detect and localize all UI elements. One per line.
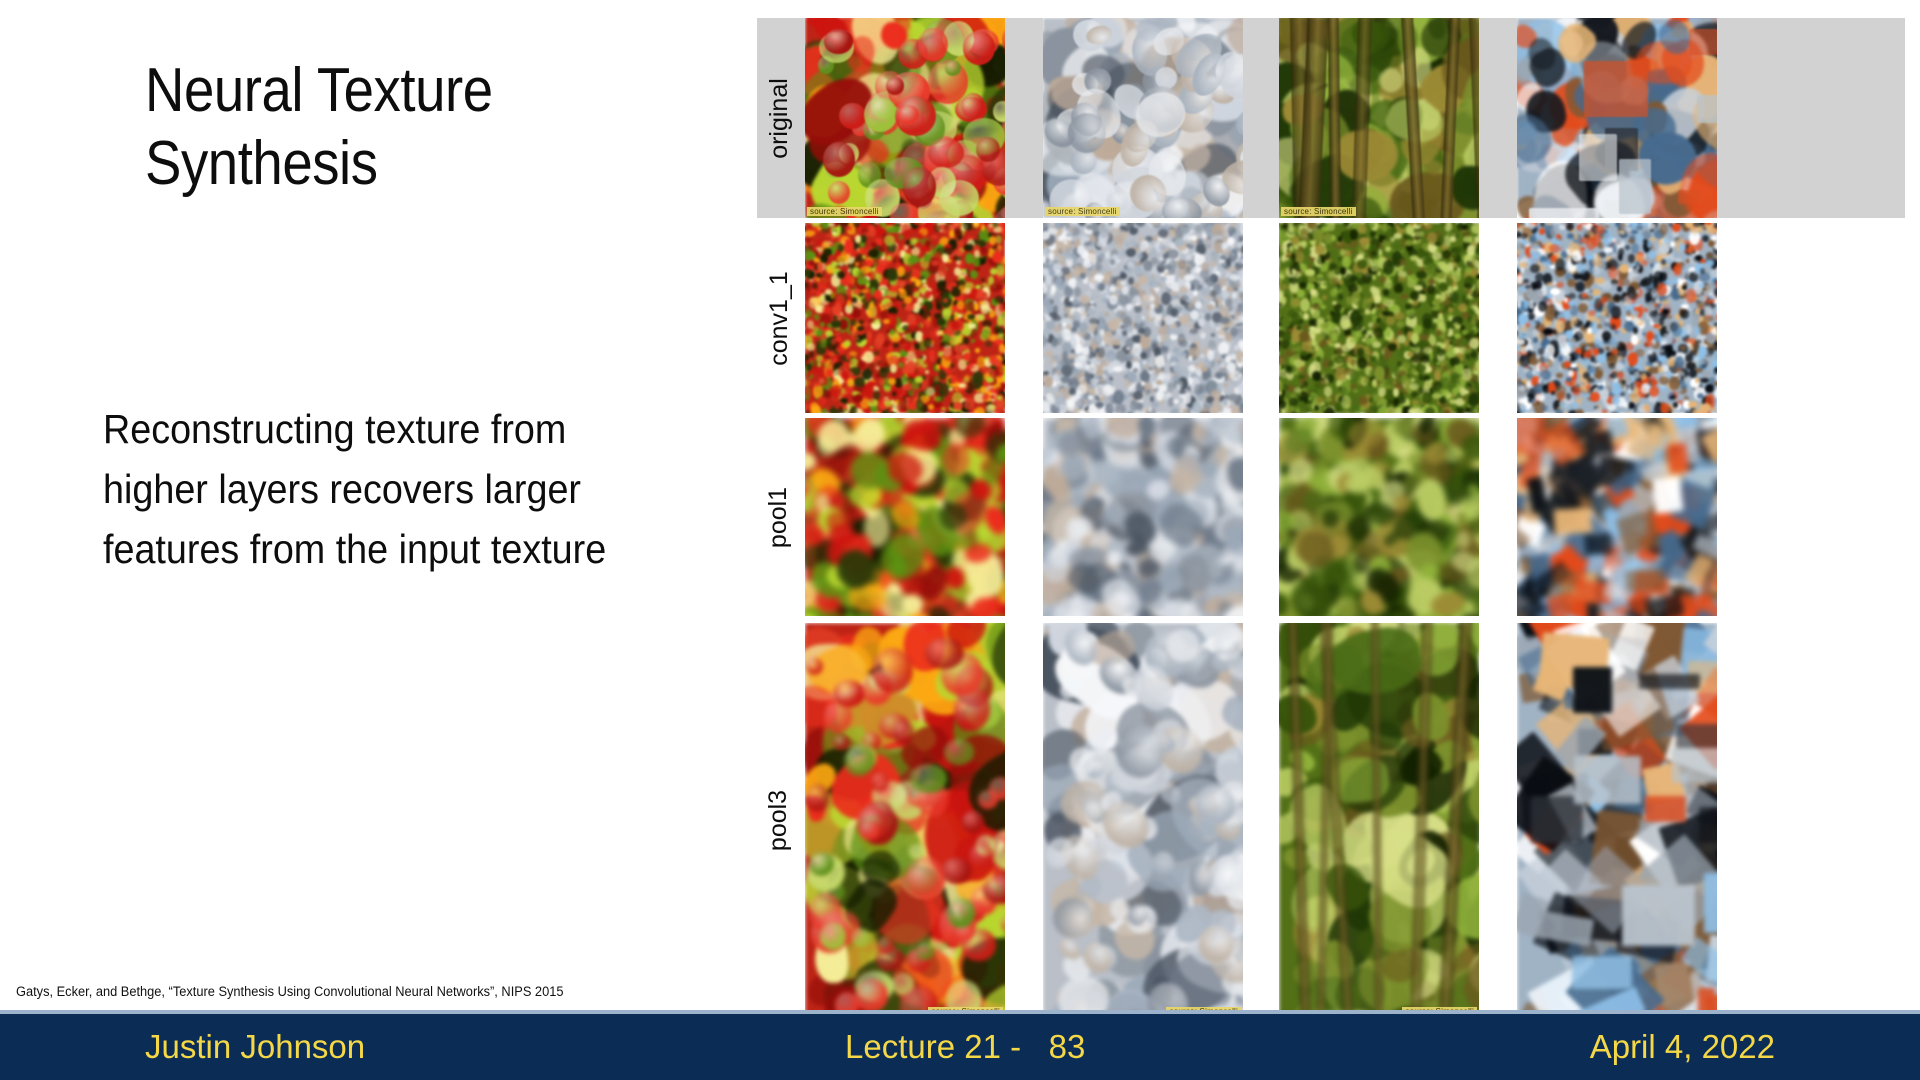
footer-date: April 4, 2022 [1590, 1028, 1775, 1066]
texture-synthesis-figure: originalsource: Simoncellisource: Simonc… [757, 18, 1905, 1018]
texture-base-layer [805, 223, 1005, 413]
row-label-text: pool1 [765, 486, 794, 547]
figure-rows: originalsource: Simoncellisource: Simonc… [757, 18, 1905, 1018]
figure-row-original: originalsource: Simoncellisource: Simonc… [757, 18, 1905, 218]
image-source-tag: source: Simoncelli [1281, 207, 1356, 216]
texture-structure-layer [1043, 18, 1243, 218]
figure-cell-radishes-pool3: source: Simoncelli [805, 623, 1005, 1018]
row-label-conv1_1: conv1_1 [757, 223, 801, 413]
figure-cell-palm-fronds: source: Simoncelli [1279, 18, 1479, 218]
figure-row-pool3: pool3source: Simoncellisource: Simoncell… [757, 623, 1905, 1018]
figure-row-conv1_1: conv1_1 [757, 223, 1905, 413]
figure-cell-pebbles-pool1 [1043, 418, 1243, 616]
row-label-text: conv1_1 [765, 271, 794, 366]
texture-base-layer [1517, 223, 1717, 413]
figure-cell-radishes-pool1 [805, 418, 1005, 616]
texture-structure-layer [1517, 18, 1717, 218]
figure-cell-pebbles: source: Simoncelli [1043, 18, 1243, 218]
figure-cell-display-booth-pool3 [1517, 623, 1717, 1018]
texture-structure-layer [1517, 623, 1717, 1018]
figure-row-cells: source: Simoncellisource: Simoncellisour… [805, 623, 1905, 1018]
row-label-text: pool3 [765, 790, 794, 851]
texture-structure-layer [805, 623, 1005, 1018]
page-title: Neural Texture Synthesis [145, 55, 638, 200]
image-source-tag: source: Simoncelli [807, 207, 882, 216]
texture-structure-layer [805, 18, 1005, 218]
figure-cell-radishes: source: Simoncelli [805, 18, 1005, 218]
image-source-tag: source: Simoncelli [1045, 207, 1120, 216]
figure-cell-display-booth-conv1-1 [1517, 223, 1717, 413]
body-paragraph: Reconstructing texture from higher layer… [103, 400, 655, 580]
figure-row-cells [805, 418, 1905, 616]
row-label-text: original [765, 78, 794, 159]
figure-cell-radishes-conv1-1 [805, 223, 1005, 413]
texture-base-layer [805, 418, 1005, 616]
figure-cell-display-booth-pool1 [1517, 418, 1717, 616]
slide: Neural Texture Synthesis Reconstructing … [0, 0, 1920, 1080]
row-label-pool1: pool1 [757, 418, 801, 616]
texture-base-layer [1043, 223, 1243, 413]
figure-cell-display-booth [1517, 18, 1717, 218]
citation-text: Gatys, Ecker, and Bethge, “Texture Synth… [16, 983, 681, 1001]
texture-base-layer [1279, 223, 1479, 413]
row-label-pool3: pool3 [757, 623, 801, 1018]
figure-row-pool1: pool1 [757, 418, 1905, 616]
texture-structure-layer [1279, 18, 1479, 218]
figure-cell-pebbles-conv1-1 [1043, 223, 1243, 413]
footer-author: Justin Johnson [145, 1028, 365, 1066]
texture-structure-layer [1043, 623, 1243, 1018]
slide-footer: Justin Johnson Lecture 21 - 83 April 4, … [0, 1010, 1920, 1080]
figure-cell-pebbles-pool3: source: Simoncelli [1043, 623, 1243, 1018]
figure-row-cells: source: Simoncellisource: Simoncellisour… [805, 18, 1905, 218]
texture-structure-layer [1279, 623, 1479, 1018]
figure-cell-palm-fronds-conv1-1 [1279, 223, 1479, 413]
figure-row-cells [805, 223, 1905, 413]
texture-base-layer [1043, 418, 1243, 616]
texture-base-layer [1517, 418, 1717, 616]
footer-lecture-slide: Lecture 21 - 83 [845, 1028, 1085, 1066]
figure-cell-palm-fronds-pool1 [1279, 418, 1479, 616]
texture-base-layer [1279, 418, 1479, 616]
row-label-original: original [757, 18, 801, 218]
figure-cell-palm-fronds-pool3: source: Simoncelli [1279, 623, 1479, 1018]
